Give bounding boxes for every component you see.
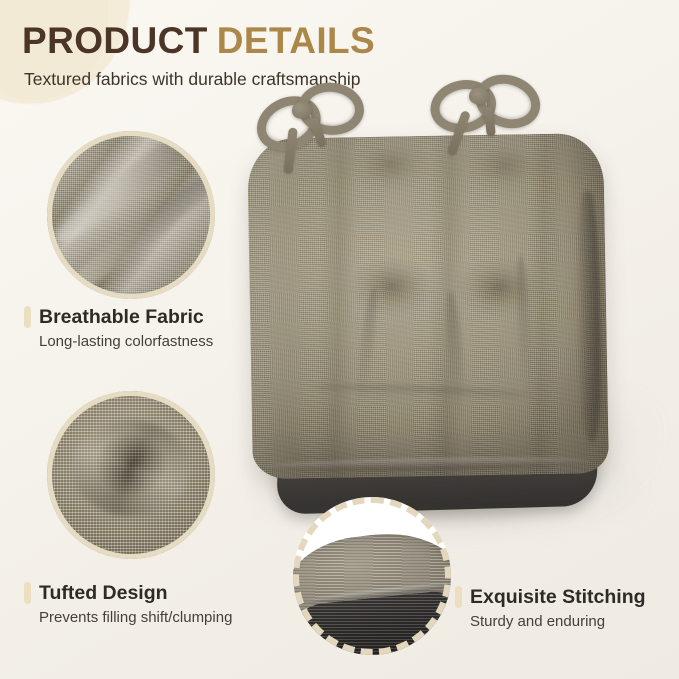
- cushion-body: [247, 133, 609, 479]
- feature-heading-row: Exquisite Stitching: [455, 585, 646, 609]
- feature-subtitle: Sturdy and enduring: [470, 612, 646, 632]
- feature-callout-breathable-fabric: Breathable Fabric Long-lasting colorfast…: [24, 305, 213, 352]
- detail-circle-tufted-design: [47, 391, 215, 559]
- page-title-product: PRODUCT: [22, 20, 208, 61]
- page-title-details: DETAILS: [217, 20, 375, 61]
- fabric-tie-bow-right: [427, 68, 544, 154]
- feature-title: Tufted Design: [39, 581, 168, 605]
- feature-subtitle: Long-lasting colorfastness: [39, 332, 213, 352]
- feature-heading-row: Tufted Design: [24, 581, 232, 605]
- feature-heading-row: Breathable Fabric: [24, 305, 213, 329]
- hero-product-image: [232, 78, 662, 548]
- feature-subtitle: Prevents filling shift/clumping: [39, 608, 232, 628]
- detail-circle-exquisite-stitching: [293, 497, 451, 655]
- accent-bar: [455, 586, 462, 608]
- feature-callout-tufted-design: Tufted Design Prevents filling shift/clu…: [24, 581, 232, 628]
- detail-circle-breathable-fabric: [47, 131, 215, 299]
- feature-callout-exquisite-stitching: Exquisite Stitching Sturdy and enduring: [455, 585, 646, 632]
- accent-bar: [24, 306, 31, 328]
- feature-title: Breathable Fabric: [39, 305, 204, 329]
- page-title: PRODUCTDETAILS: [22, 18, 542, 64]
- feature-title: Exquisite Stitching: [470, 585, 646, 609]
- tuft-dimple: [72, 420, 190, 516]
- product-details-infographic: PRODUCTDETAILS Textured fabrics with dur…: [0, 0, 679, 679]
- fabric-weave-texture-2: [247, 133, 609, 479]
- accent-bar: [24, 582, 31, 604]
